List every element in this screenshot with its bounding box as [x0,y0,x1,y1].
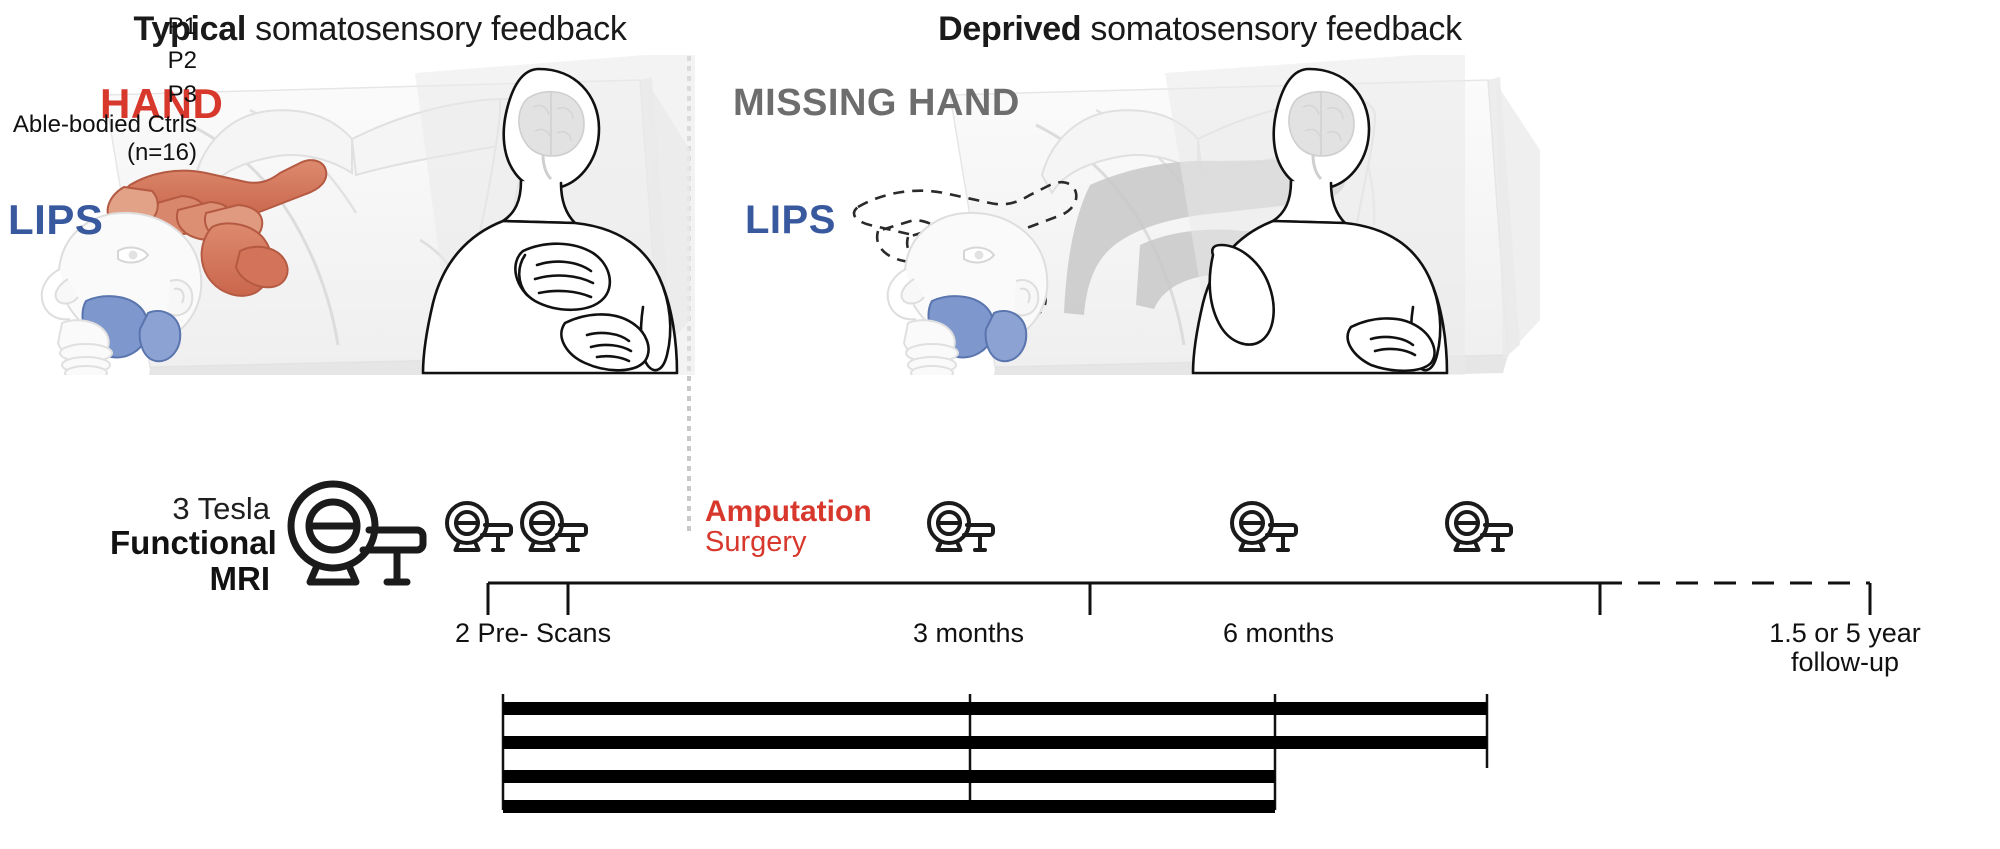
torso-illustration-intact [415,55,695,375]
timeline-label-followup-line2: follow-up [1710,648,1980,677]
mri-scanner-icon-followup [1440,500,1516,556]
timeline-label-3-months: 3 months [913,619,1024,648]
figure-canvas: Typical somatosensory feedback Deprived … [0,0,2000,849]
panel-title-left-rest: somatosensory feedback [246,10,627,48]
scanner-caption-line3: MRI [110,561,270,597]
participant-label-controls-n: (n=16) [127,140,197,165]
participant-bar-p3 [503,770,1275,783]
amputation-surgery-label: Amputation Surgery [705,497,885,557]
timeline-label-followup-line1: 1.5 or 5 year [1710,619,1980,648]
participant-label-p1: P1 [168,14,197,39]
timeline-label-6-months: 6 months [1223,619,1334,648]
panel-title-right-bold: Deprived [938,10,1081,48]
panel-title-right: Deprived somatosensory feedback [780,10,1620,49]
timeline-label-followup: 1.5 or 5 year follow-up [1710,619,1980,676]
scanner-caption-line2: Functional [110,525,270,561]
mri-scanner-icon-prescan-2 [515,500,591,556]
participant-label-controls: Able-bodied Ctrls [13,112,197,137]
participant-bar-p2 [503,736,1487,749]
timeline-label-pre-scans: 2 Pre- Scans [455,619,611,648]
panel-title-right-rest: somatosensory feedback [1081,10,1462,48]
region-label-missing-hand: MISSING HAND [733,82,1020,125]
projection-beam [1496,83,1540,360]
participant-bar-controls [503,800,1275,813]
mri-scanner-icon-large [277,478,427,588]
participant-label-p2: P2 [168,48,197,73]
mri-scanner-icon-6months [1225,500,1301,556]
surgery-label-rest: Surgery [705,528,885,558]
region-label-lips-right: LIPS [745,198,836,243]
participant-bar-p1 [503,702,1487,715]
study-timeline [480,575,1920,695]
scanner-caption-line1: 3 Tesla [110,492,270,525]
torso-illustration-amputated [1165,55,1465,375]
mri-scanner-icon-prescan-1 [440,500,516,556]
participant-label-p3: P3 [168,82,197,107]
surgery-label-bold: Amputation [705,497,885,528]
participant-labels: P1 P2 P3 Able-bodied Ctrls (n=16) [0,0,205,169]
region-label-lips-left: LIPS [8,196,103,244]
mri-scanner-icon-3months [922,500,998,556]
participant-coverage-chart [290,680,1910,849]
scanner-caption: 3 Tesla Functional MRI [110,492,270,597]
